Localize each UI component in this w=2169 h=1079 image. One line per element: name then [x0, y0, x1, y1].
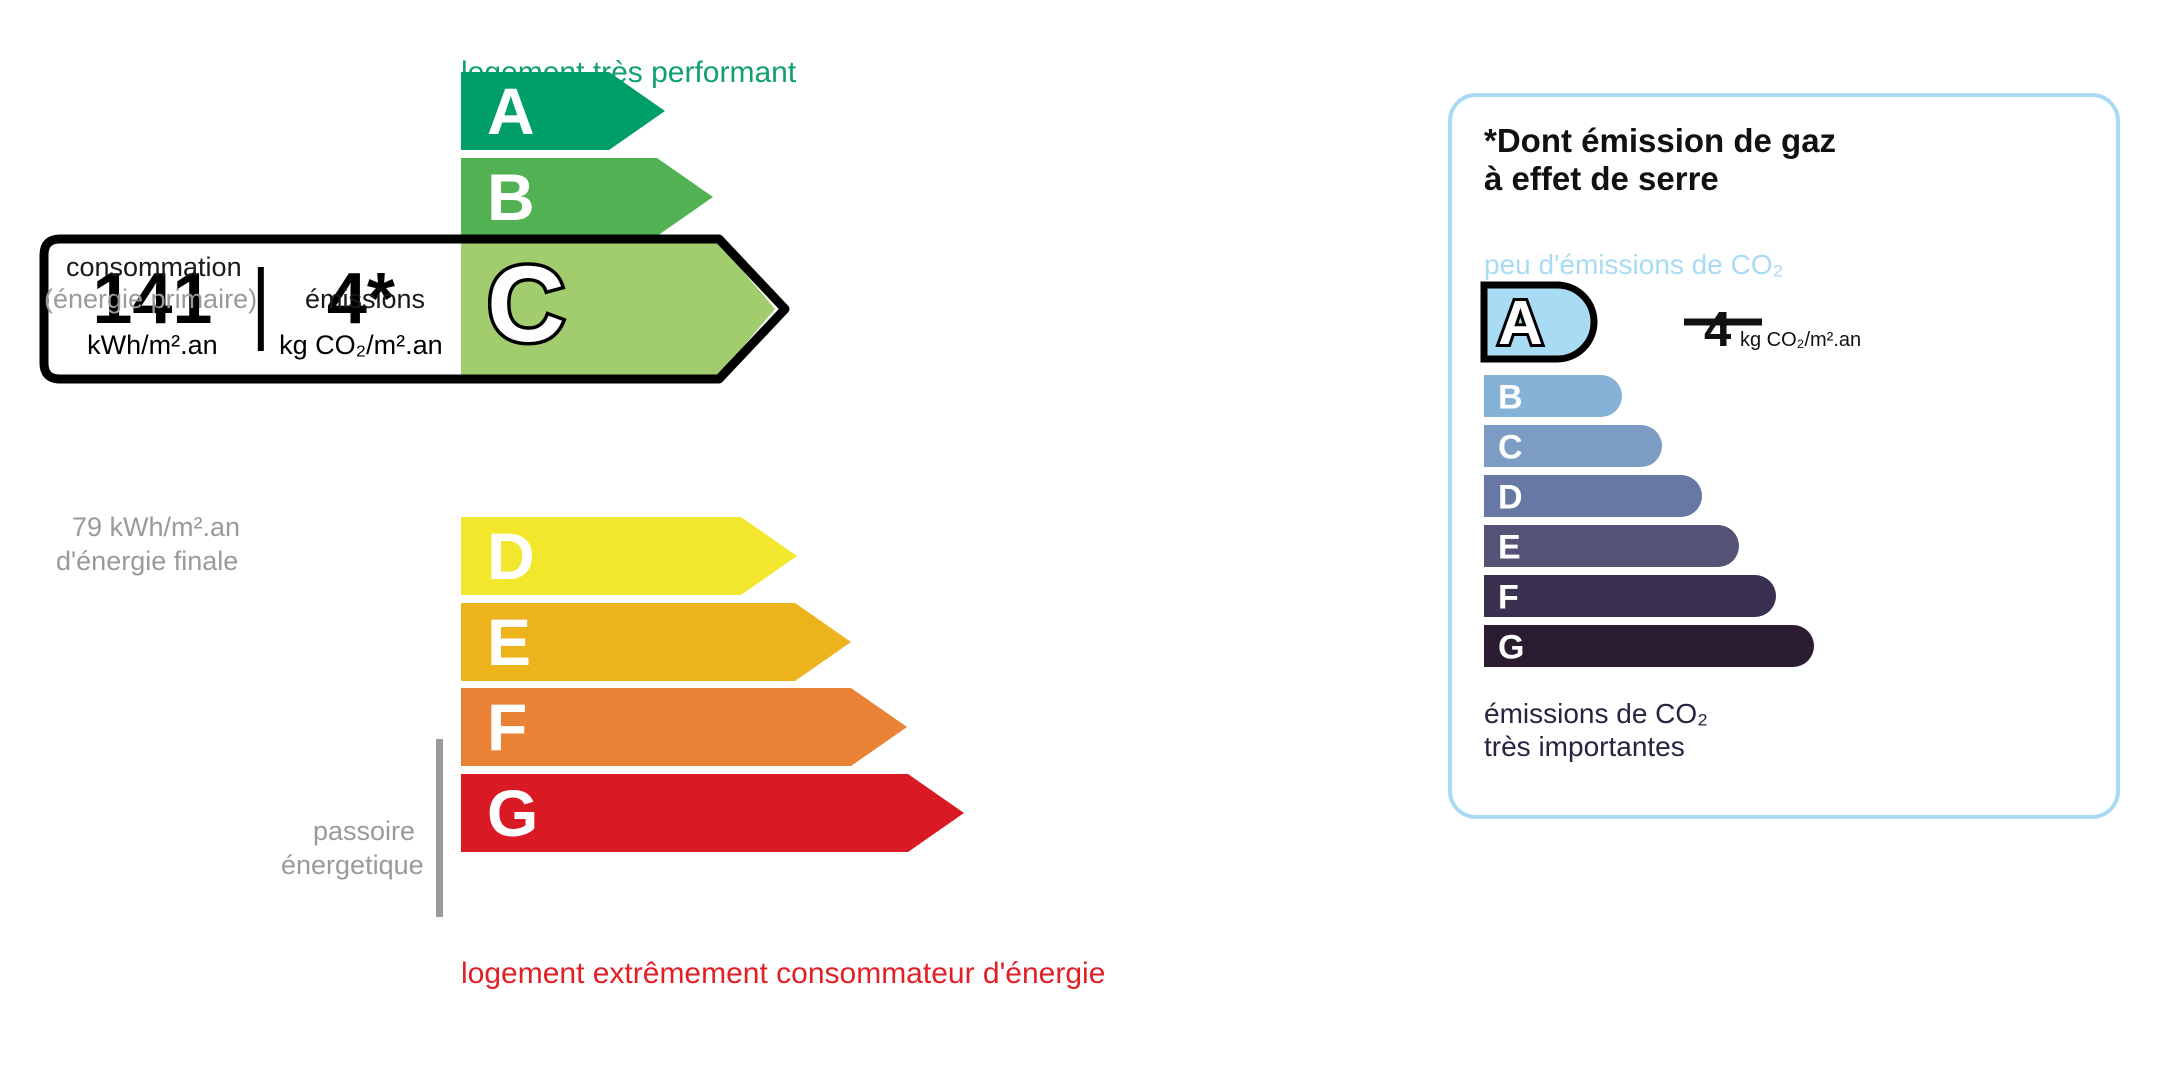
dpe-diagram: logement très performant ABCDEFG 141kWh/…	[0, 0, 2169, 1079]
emission-unit: kg CO₂/m².an	[279, 330, 443, 360]
band-letter-g: G	[487, 776, 538, 850]
co2-panel: *Dont émission de gaz à effet de serre p…	[1448, 93, 2120, 819]
co2-bar-letter-e: E	[1498, 529, 1521, 567]
co2-bar-g	[1484, 625, 1814, 667]
co2-bar-letter-a: A	[1498, 289, 1543, 358]
co2-legend-bottom: émissions de CO₂ très importantes	[1484, 697, 1708, 763]
band-letter-d: D	[487, 519, 535, 593]
passoire-line-1: passoire	[313, 816, 415, 847]
final-energy-text: d'énergie finale	[56, 546, 238, 577]
consumption-unit: kWh/m².an	[87, 330, 218, 360]
band-letter-e: E	[487, 605, 531, 679]
co2-bar-letter-f: F	[1498, 579, 1519, 617]
band-letter-b: B	[487, 160, 535, 234]
band-letter-c: C	[487, 243, 565, 364]
band-letter-a: A	[487, 74, 535, 148]
co2-bar-e	[1484, 525, 1739, 567]
co2-value: 4	[1704, 302, 1731, 358]
co2-bar-letter-d: D	[1498, 479, 1523, 517]
emissions-label: émissions	[305, 284, 425, 315]
co2-bar-letter-b: B	[1498, 379, 1523, 417]
energy-band-f	[461, 688, 907, 766]
co2-bar-f	[1484, 575, 1776, 617]
consumption-label: consommation	[66, 252, 242, 283]
co2-bar-letter-c: C	[1498, 429, 1523, 467]
final-energy-value: 79 kWh/m².an	[72, 512, 240, 543]
scale-bottom-caption: logement extrêmement consommateur d'éner…	[461, 957, 1105, 992]
consumption-sublabel: (énergie primaire)	[44, 284, 257, 315]
passoire-rule	[436, 739, 443, 917]
band-letter-f: F	[487, 690, 527, 764]
passoire-line-2: énergetique	[281, 850, 424, 881]
co2-unit: kg CO₂/m².an	[1740, 329, 1861, 352]
co2-bar-letter-g: G	[1498, 629, 1524, 667]
